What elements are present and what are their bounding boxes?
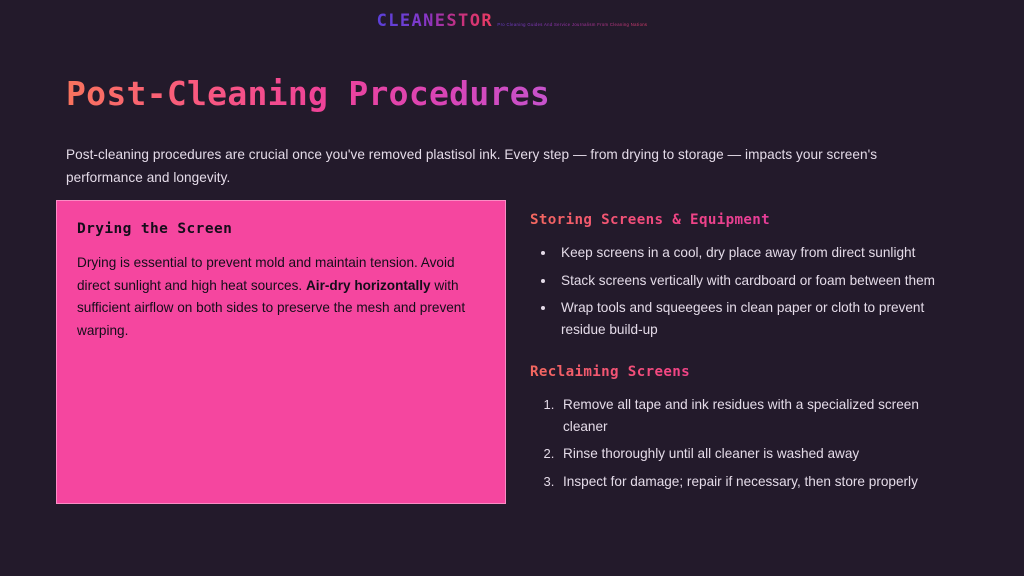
brand-tagline: Pro Cleaning Guides And Service Journali…: [497, 21, 647, 29]
drying-card-emphasis: Air-dry horizontally: [306, 278, 431, 293]
storing-list: Keep screens in a cool, dry place away f…: [530, 242, 954, 340]
drying-card-body: Drying is essential to prevent mold and …: [77, 252, 483, 342]
reclaiming-list: Remove all tape and ink residues with a …: [530, 394, 954, 492]
section-heading-reclaiming: Reclaiming Screens: [530, 362, 954, 382]
list-item: Stack screens vertically with cardboard …: [556, 270, 954, 292]
list-item: Keep screens in a cool, dry place away f…: [556, 242, 954, 264]
section-heading-storing: Storing Screens & Equipment: [530, 210, 954, 230]
drying-card-title: Drying the Screen: [77, 219, 483, 239]
brand-logo: CLEANESTOR Pro Cleaning Guides And Servi…: [0, 12, 1024, 31]
list-item: Inspect for damage; repair if necessary,…: [558, 471, 954, 493]
drying-card: Drying the Screen Drying is essential to…: [56, 200, 506, 504]
list-item: Rinse thoroughly until all cleaner is wa…: [558, 443, 954, 465]
page-title: Post-Cleaning Procedures: [66, 72, 550, 116]
right-column: Storing Screens & Equipment Keep screens…: [530, 210, 954, 492]
list-item: Wrap tools and squeegees in clean paper …: [556, 297, 954, 340]
list-item: Remove all tape and ink residues with a …: [558, 394, 954, 437]
brand-wordmark: CLEANESTOR: [377, 12, 493, 31]
intro-paragraph: Post-cleaning procedures are crucial onc…: [66, 143, 938, 189]
